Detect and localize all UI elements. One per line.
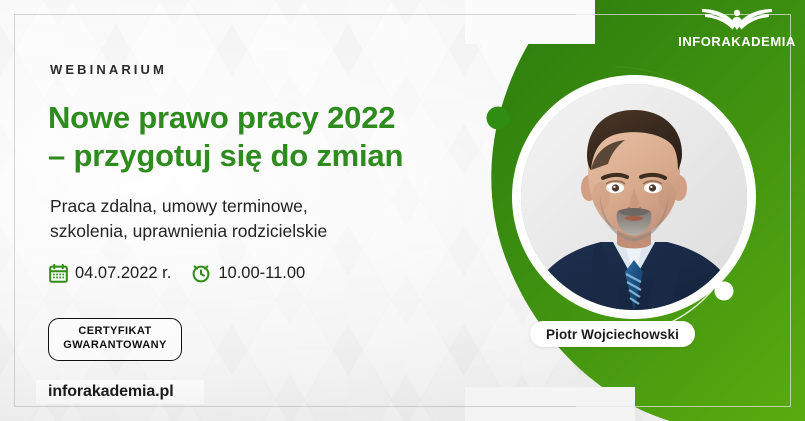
event-meta: 04.07.2022 r. 10.00-11.00 — [49, 263, 305, 283]
green-shape-bottom-notch — [465, 387, 635, 421]
event-time-text: 10.00-11.00 — [218, 264, 305, 283]
subtitle: Praca zdalna, umowy terminowe, szkolenia… — [50, 194, 450, 245]
speaker-name-text: Piotr Wojciechowski — [546, 327, 679, 342]
speaker-portrait — [521, 84, 747, 310]
alarm-clock-icon — [191, 263, 211, 283]
page-title-line-1: Nowe prawo pracy 2022 — [48, 99, 478, 137]
kicker-label: WEBINARIUM — [50, 62, 167, 77]
certificate-badge-line-1: CERTYFIKAT — [49, 325, 181, 339]
webinar-banner: Piotr Wojciechowski INFORAKADEMIA WEBINA… — [0, 0, 805, 421]
green-shape-top-notch — [465, 0, 595, 44]
page-title-line-2: – przygotuj się do zmian — [48, 137, 478, 175]
brand-logo[interactable]: INFORAKADEMIA — [678, 6, 796, 49]
certificate-badge-line-2: GWARANTOWANY — [49, 339, 181, 353]
white-dot — [715, 282, 734, 301]
calendar-icon — [49, 264, 68, 283]
subtitle-line-1: Praca zdalna, umowy terminowe, — [50, 194, 450, 219]
certificate-badge: CERTYFIKAT GWARANTOWANY — [48, 318, 182, 361]
page-title: Nowe prawo pracy 2022 – przygotuj się do… — [48, 99, 478, 175]
event-date: 04.07.2022 r. — [49, 264, 171, 283]
green-dot — [487, 107, 510, 130]
open-book-academy-icon — [701, 6, 773, 32]
speaker-name-label: Piotr Wojciechowski — [530, 321, 695, 347]
event-date-text: 04.07.2022 r. — [75, 264, 171, 283]
subtitle-line-2: szkolenia, uprawnienia rodzicielskie — [50, 219, 450, 244]
footer-website-url[interactable]: inforakademia.pl — [48, 383, 184, 401]
brand-logo-text: INFORAKADEMIA — [678, 34, 796, 49]
event-time: 10.00-11.00 — [191, 263, 305, 283]
